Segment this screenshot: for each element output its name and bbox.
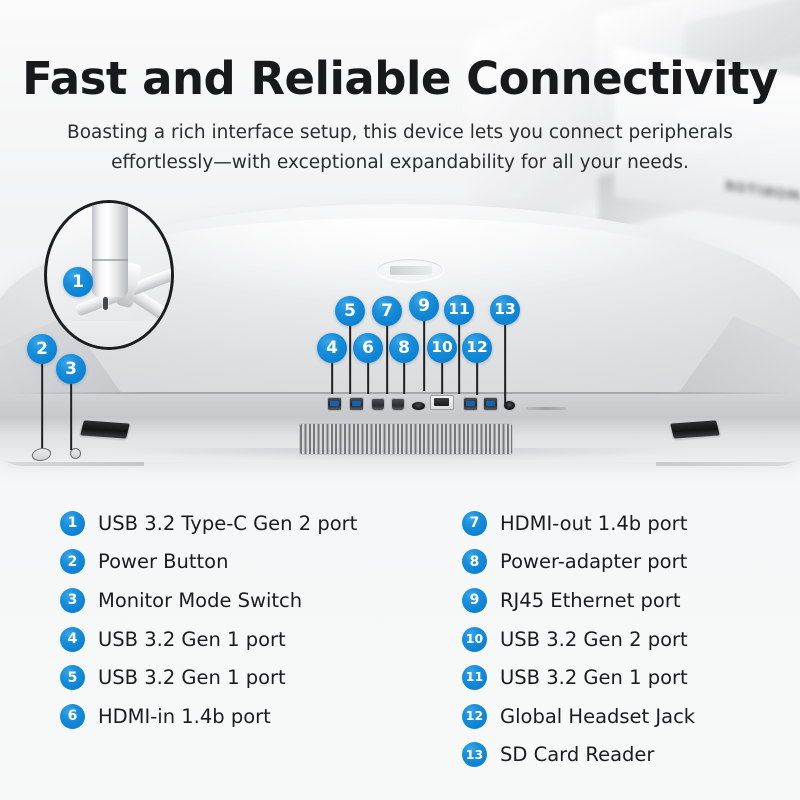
callout-badge-6[interactable]: 6 bbox=[353, 333, 383, 363]
infographic-page: MONITOR Fast and Reliable Connectivity B… bbox=[0, 0, 800, 800]
legend-item-2[interactable]: 2Power Button bbox=[60, 543, 440, 582]
callout-badge-9[interactable]: 9 bbox=[409, 291, 439, 321]
callout-badge-10[interactable]: 10 bbox=[427, 333, 457, 363]
legend-item-10[interactable]: 10USB 3.2 Gen 2 port bbox=[462, 620, 792, 659]
legend-label-8: Power-adapter port bbox=[500, 550, 687, 573]
legend-item-7[interactable]: 7HDMI-out 1.4b port bbox=[462, 504, 792, 543]
callout-badge-5[interactable]: 5 bbox=[335, 296, 365, 326]
legend-item-11[interactable]: 11USB 3.2 Gen 1 port bbox=[462, 658, 792, 697]
callout-badge-8[interactable]: 8 bbox=[389, 333, 419, 363]
legend-item-1[interactable]: 1USB 3.2 Type-C Gen 2 port bbox=[60, 504, 440, 543]
legend-column-right: 7HDMI-out 1.4b port8Power-adapter port9R… bbox=[462, 504, 792, 774]
legend-badge-6: 6 bbox=[60, 704, 85, 729]
legend-item-13[interactable]: 13SD Card Reader bbox=[462, 736, 792, 775]
ventilation-grille bbox=[300, 424, 512, 454]
legend-item-5[interactable]: 5USB 3.2 Gen 1 port bbox=[60, 658, 440, 697]
legend-label-2: Power Button bbox=[98, 550, 228, 573]
legend-label-1: USB 3.2 Type-C Gen 2 port bbox=[98, 512, 357, 535]
sd-card-slot-icon bbox=[526, 407, 566, 410]
usb-a-port-4-icon bbox=[328, 398, 341, 410]
legend-label-4: USB 3.2 Gen 1 port bbox=[98, 628, 286, 651]
legend-label-12: Global Headset Jack bbox=[500, 705, 695, 728]
legend-badge-7: 7 bbox=[462, 511, 487, 536]
legend-badge-9: 9 bbox=[462, 588, 487, 613]
usb-c-port-icon bbox=[103, 297, 108, 310]
legend-badge-5: 5 bbox=[60, 665, 85, 690]
legend-label-13: SD Card Reader bbox=[500, 743, 654, 766]
callout-badge-2[interactable]: 2 bbox=[27, 334, 57, 364]
legend-item-8[interactable]: 8Power-adapter port bbox=[462, 543, 792, 582]
callout-badge-4[interactable]: 4 bbox=[317, 333, 347, 363]
legend-label-10: USB 3.2 Gen 2 port bbox=[500, 628, 688, 651]
hdmi-in-port-icon bbox=[372, 399, 384, 410]
speaker-slot-left bbox=[80, 420, 130, 438]
legend-item-4[interactable]: 4USB 3.2 Gen 1 port bbox=[60, 620, 440, 659]
subtitle-line-1: Boasting a rich interface setup, this de… bbox=[67, 122, 733, 143]
legend-item-9[interactable]: 9RJ45 Ethernet port bbox=[462, 581, 792, 620]
power-adapter-port-icon bbox=[412, 402, 425, 410]
legend-badge-1: 1 bbox=[60, 511, 85, 536]
legend-label-3: Monitor Mode Switch bbox=[98, 589, 302, 612]
port-cluster bbox=[324, 388, 534, 410]
legend-column-left: 1USB 3.2 Type-C Gen 2 port2Power Button3… bbox=[60, 504, 440, 736]
dell-logo-icon bbox=[376, 258, 444, 282]
legend-label-9: RJ45 Ethernet port bbox=[500, 589, 680, 612]
subtitle-line-2: effortlessly—with exceptional expandabil… bbox=[111, 152, 689, 173]
legend-label-11: USB 3.2 Gen 1 port bbox=[500, 666, 688, 689]
page-title: Fast and Reliable Connectivity bbox=[0, 52, 800, 105]
legend-label-6: HDMI-in 1.4b port bbox=[98, 705, 271, 728]
usb-a-port-11-icon bbox=[484, 398, 497, 410]
callout-badge-12[interactable]: 12 bbox=[462, 333, 492, 363]
usb-a-port-10-icon bbox=[464, 398, 477, 410]
legend-badge-12: 12 bbox=[462, 704, 487, 729]
callout-badge-11[interactable]: 11 bbox=[444, 295, 474, 325]
callout-badge-1[interactable]: 1 bbox=[63, 267, 93, 297]
usb-a-port-5-icon bbox=[350, 398, 363, 410]
speaker-slot-right bbox=[670, 420, 720, 438]
legend-item-3[interactable]: 3Monitor Mode Switch bbox=[60, 581, 440, 620]
rj45-ethernet-port-icon bbox=[430, 395, 454, 410]
inset-floor bbox=[44, 321, 174, 350]
legend-badge-4: 4 bbox=[60, 627, 85, 652]
legend-badge-11: 11 bbox=[462, 665, 487, 690]
legend-badge-13: 13 bbox=[462, 742, 487, 767]
legend-label-7: HDMI-out 1.4b port bbox=[500, 512, 687, 535]
legend-badge-10: 10 bbox=[462, 627, 487, 652]
callout-badge-13[interactable]: 13 bbox=[490, 295, 520, 325]
legend-badge-8: 8 bbox=[462, 549, 487, 574]
page-subtitle: Boasting a rich interface setup, this de… bbox=[0, 118, 800, 178]
legend-item-6[interactable]: 6HDMI-in 1.4b port bbox=[60, 697, 440, 736]
legend-item-12[interactable]: 12Global Headset Jack bbox=[462, 697, 792, 736]
stand-column bbox=[92, 200, 128, 297]
legend-label-5: USB 3.2 Gen 1 port bbox=[98, 666, 286, 689]
hdmi-out-port-icon bbox=[392, 399, 404, 410]
legend-badge-3: 3 bbox=[60, 588, 85, 613]
legend-badge-2: 2 bbox=[60, 549, 85, 574]
callout-badge-3[interactable]: 3 bbox=[56, 354, 86, 384]
callout-badge-7[interactable]: 7 bbox=[372, 296, 402, 326]
